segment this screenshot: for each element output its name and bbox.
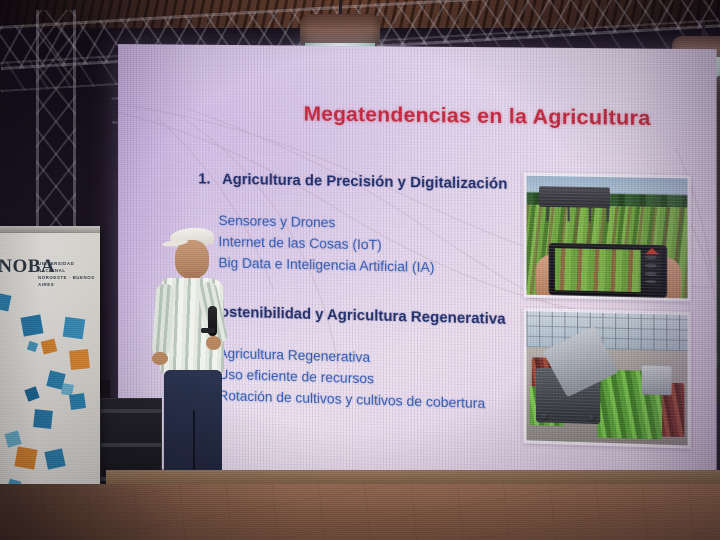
decorative-cube bbox=[69, 349, 90, 370]
slide-image-drone-field bbox=[523, 173, 690, 302]
robot-wheel bbox=[540, 412, 548, 421]
photo-drone bbox=[539, 187, 610, 209]
truss-vertical-tower bbox=[36, 10, 76, 260]
tablet-buttons bbox=[640, 251, 661, 292]
decorative-cube bbox=[44, 448, 65, 469]
decorative-cube bbox=[14, 446, 37, 469]
second-robot bbox=[642, 366, 671, 395]
tablet-button bbox=[644, 256, 657, 260]
decorative-cube bbox=[0, 293, 11, 312]
greenhouse-roof bbox=[526, 311, 687, 351]
slide-bullets-2: Agricultura Regenerativa Uso eficiente d… bbox=[218, 343, 485, 415]
presentation-photo-scene: Megatendencias en la Agricultura 1. Agri… bbox=[0, 0, 720, 540]
tablet-button bbox=[644, 264, 657, 268]
decorative-cube bbox=[4, 430, 21, 447]
decorative-cube bbox=[41, 338, 58, 354]
banner-subtitle-line-2: NOROESTE · BUENOS AIRES bbox=[38, 274, 100, 288]
presenter-right-hand bbox=[206, 336, 221, 350]
banner-top-rail bbox=[0, 226, 100, 233]
decorative-cube bbox=[24, 386, 39, 401]
decorative-cube bbox=[63, 317, 86, 340]
banner-subtitle: UNIVERSIDAD NACIONAL NOROESTE · BUENOS A… bbox=[38, 260, 100, 288]
tablet-button bbox=[644, 280, 657, 284]
slide-bullets-1: Sensores y Drones Internet de las Cosas … bbox=[218, 210, 434, 278]
wristwatch bbox=[201, 328, 215, 333]
tablet-screen bbox=[555, 248, 641, 292]
decorative-cube bbox=[69, 393, 86, 410]
floor-shadow bbox=[0, 484, 300, 540]
drone-leg bbox=[546, 207, 548, 221]
drone-leg bbox=[606, 208, 608, 222]
tablet-button bbox=[644, 272, 657, 276]
decorative-cube bbox=[33, 409, 53, 429]
robot-wheel bbox=[588, 413, 596, 422]
heading-1-number: 1. bbox=[198, 171, 210, 187]
decorative-cube bbox=[27, 341, 38, 352]
slide-image-greenhouse-robot bbox=[523, 308, 690, 449]
photo-tablet bbox=[549, 243, 667, 298]
slide-title: Megatendencias en la Agricultura bbox=[290, 102, 666, 131]
presenter-left-hand bbox=[152, 352, 168, 365]
drone-leg bbox=[589, 208, 591, 222]
rollup-banner: NNOBA UNIVERSIDAD NACIONAL NOROESTE · BU… bbox=[0, 232, 100, 520]
drone-leg bbox=[567, 207, 569, 221]
decorative-cube bbox=[21, 314, 44, 336]
banner-subtitle-line-1: UNIVERSIDAD NACIONAL bbox=[38, 260, 100, 274]
